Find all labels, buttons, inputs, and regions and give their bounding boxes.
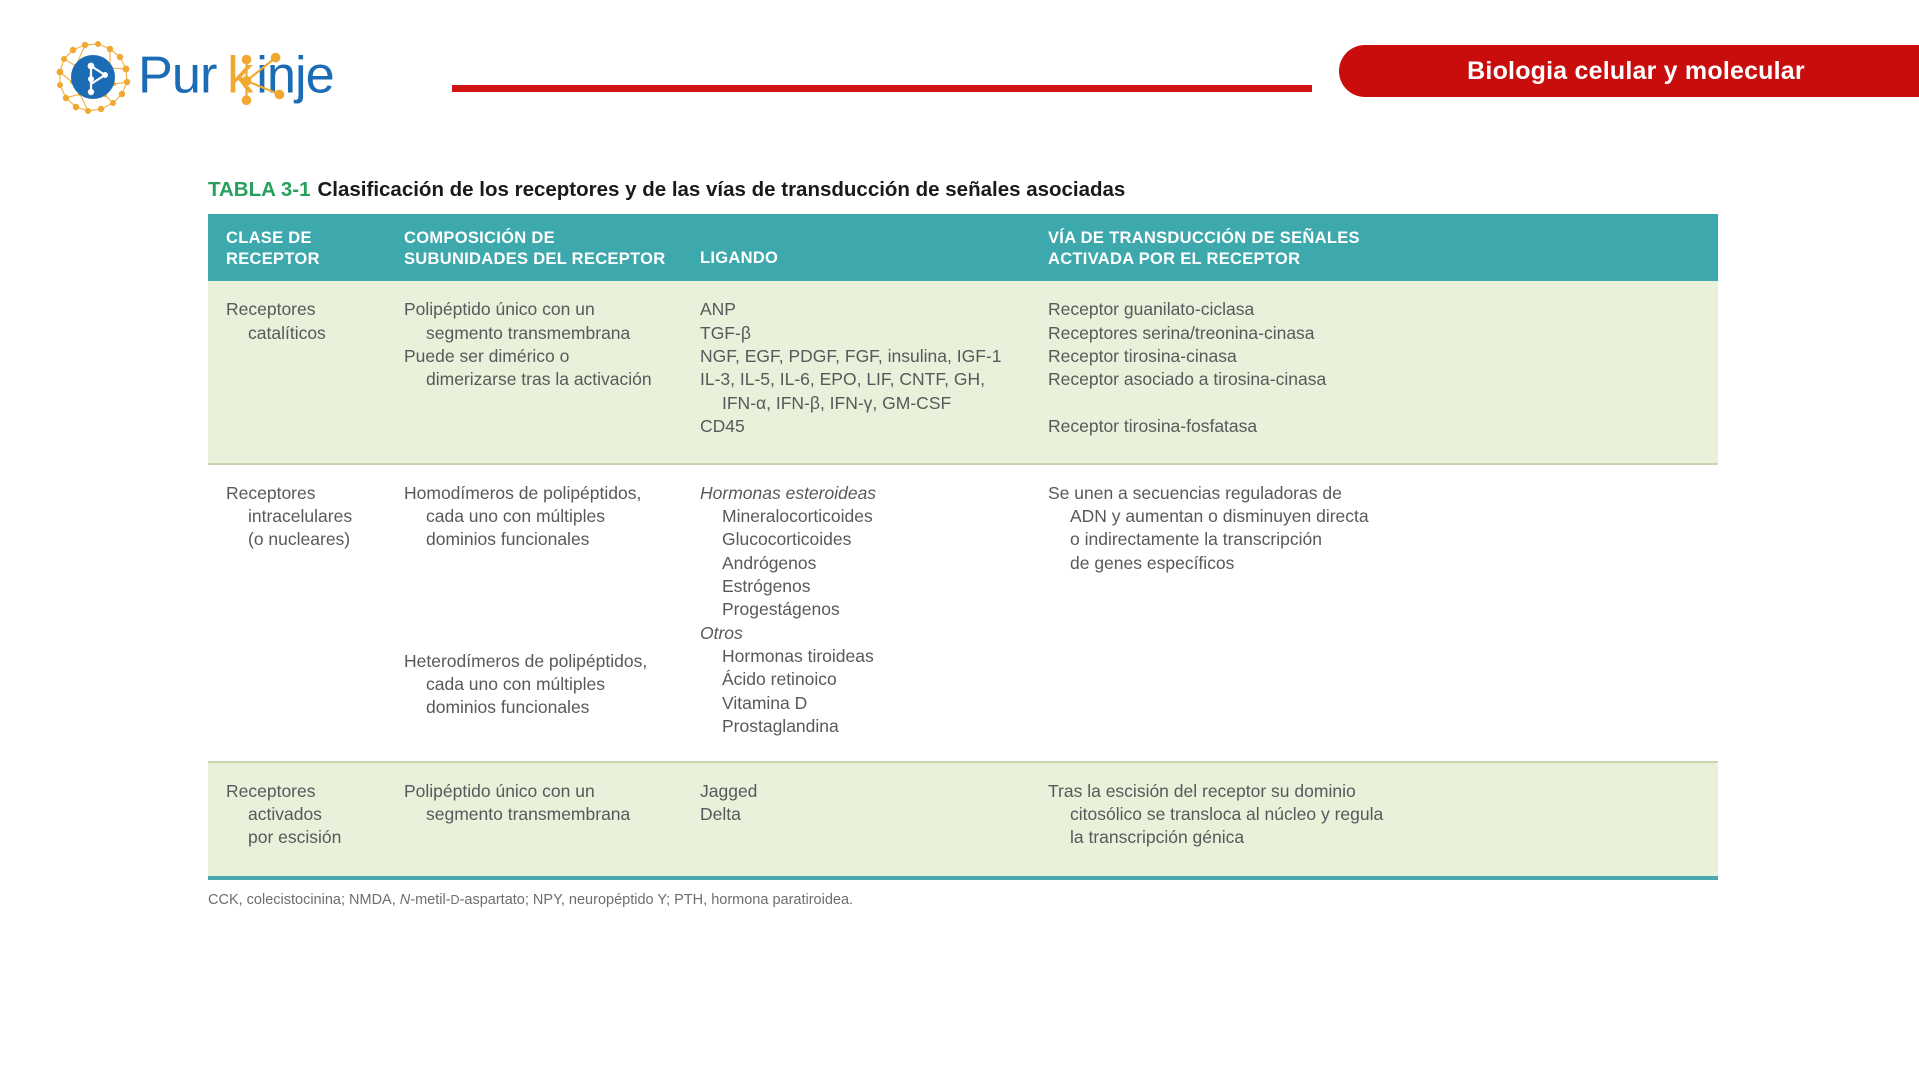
cell-via: Tras la escisión del receptor su dominio… bbox=[1048, 780, 1718, 850]
cell-line: Andrógenos bbox=[700, 552, 1048, 575]
cell-line: Hormonas tiroideas bbox=[700, 645, 1048, 668]
cell-line: segmento transmembrana bbox=[404, 803, 700, 826]
column-header-ligando-line1: LIGANDO bbox=[700, 248, 1048, 269]
cell-via: Receptor guanilato-ciclasa Receptores se… bbox=[1048, 298, 1718, 438]
cell-line: Heterodímeros de polipéptidos, bbox=[404, 650, 700, 673]
cell-line: Ácido retinoico bbox=[700, 668, 1048, 691]
cell-clase: Receptores catalíticos bbox=[208, 298, 404, 438]
column-header-via-line1: VÍA DE TRANSDUCCIÓN DE SEÑALES bbox=[1048, 228, 1704, 249]
cell-line: cada uno con múltiples bbox=[404, 505, 700, 528]
footnote-part: -metil- bbox=[410, 892, 450, 908]
cell-line: Prostaglandina bbox=[700, 715, 1048, 738]
table-row: Receptores intracelulares (o nucleares) … bbox=[208, 465, 1718, 761]
cell-line: la transcripción génica bbox=[1048, 826, 1704, 849]
spacer bbox=[404, 552, 700, 650]
cell-line: segmento transmembrana bbox=[404, 322, 700, 345]
column-header-composicion: COMPOSICIÓN DE SUBUNIDADES DEL RECEPTOR bbox=[404, 228, 700, 269]
cell-line: Puede ser dimérico o bbox=[404, 345, 700, 368]
column-header-via-line2: ACTIVADA POR EL RECEPTOR bbox=[1048, 249, 1704, 270]
column-header-composicion-line1: COMPOSICIÓN DE bbox=[404, 228, 700, 249]
cell-line: activados bbox=[226, 803, 404, 826]
purkinje-logo-icon bbox=[50, 38, 136, 116]
brand-logo[interactable]: Pur k inje bbox=[50, 38, 429, 116]
cell-line: (o nucleares) bbox=[226, 528, 404, 551]
cell-line: catalíticos bbox=[226, 322, 404, 345]
cell-clase: Receptores intracelulares (o nucleares) bbox=[208, 482, 404, 739]
cell-line: Receptor tirosina-cinasa bbox=[1048, 345, 1704, 368]
column-header-clase-line2: RECEPTOR bbox=[226, 249, 404, 270]
cell-line: Receptores bbox=[226, 482, 404, 505]
cell-line: Polipéptido único con un bbox=[404, 780, 700, 803]
ligando-group-heading: Otros bbox=[700, 622, 1048, 645]
cell-line: Receptores bbox=[226, 298, 404, 321]
cell-line: Homodímeros de polipéptidos, bbox=[404, 482, 700, 505]
cell-line: Tras la escisión del receptor su dominio bbox=[1048, 780, 1704, 803]
column-header-ligando: LIGANDO bbox=[700, 228, 1048, 269]
ligando-group-heading: Hormonas esteroideas bbox=[700, 482, 1048, 505]
footnote-part: D bbox=[451, 893, 460, 907]
cell-line: por escisión bbox=[226, 826, 404, 849]
table-footnote: CCK, colecistocinina; NMDA, N-metil-D-as… bbox=[208, 880, 1718, 910]
svg-text:Pur: Pur bbox=[138, 47, 217, 105]
table-caption: TABLA 3-1Clasificación de los receptores… bbox=[208, 178, 1718, 202]
cell-line: IFN-α, IFN-β, IFN-γ, GM-CSF bbox=[700, 392, 1048, 415]
page-header: Pur k inje Biologia celular y molecular bbox=[0, 0, 1919, 130]
column-header-clase: CLASE DE RECEPTOR bbox=[208, 228, 404, 269]
cell-line: Receptor asociado a tirosina-cinasa bbox=[1048, 368, 1704, 391]
table-block: TABLA 3-1Clasificación de los receptores… bbox=[208, 178, 1718, 909]
table-row: Receptores catalíticos Polipéptido único… bbox=[208, 281, 1718, 462]
cell-line: Receptores bbox=[226, 780, 404, 803]
footnote-part: N bbox=[400, 892, 410, 908]
cell-line: Vitamina D bbox=[700, 692, 1048, 715]
cell-line: intracelulares bbox=[226, 505, 404, 528]
cell-line: ADN y aumentan o disminuyen directa bbox=[1048, 505, 1704, 528]
cell-line: Estrógenos bbox=[700, 575, 1048, 598]
table-row: Receptores activados por escisión Polipé… bbox=[208, 763, 1718, 876]
footnote-part: -aspartato; NPY, neuropéptido Y; PTH, ho… bbox=[460, 892, 853, 908]
cell-composicion: Homodímeros de polipéptidos, cada uno co… bbox=[404, 482, 700, 739]
header-title-banner: Biologia celular y molecular bbox=[1339, 45, 1919, 97]
cell-ligando: Jagged Delta bbox=[700, 780, 1048, 850]
cell-line: o indirectamente la transcripción bbox=[1048, 528, 1704, 551]
table-header-row: CLASE DE RECEPTOR COMPOSICIÓN DE SUBUNID… bbox=[208, 214, 1718, 281]
spacer bbox=[1048, 392, 1704, 416]
column-header-composicion-line2: SUBUNIDADES DEL RECEPTOR bbox=[404, 249, 700, 270]
cell-line: dominios funcionales bbox=[404, 696, 700, 719]
cell-line: CD45 bbox=[700, 415, 1048, 438]
svg-text:inje: inje bbox=[256, 47, 334, 105]
column-header-clase-line1: CLASE DE bbox=[226, 228, 404, 249]
header-title-text: Biologia celular y molecular bbox=[1467, 57, 1805, 86]
header-red-rule bbox=[452, 85, 1312, 92]
cell-line: de genes específicos bbox=[1048, 552, 1704, 575]
cell-line: Glucocorticoides bbox=[700, 528, 1048, 551]
cell-line: dimerizarse tras la activación bbox=[404, 368, 700, 391]
cell-line: Polipéptido único con un bbox=[404, 298, 700, 321]
cell-line: Jagged bbox=[700, 780, 1048, 803]
cell-line: Receptor tirosina-fosfatasa bbox=[1048, 415, 1704, 438]
cell-composicion: Polipéptido único con un segmento transm… bbox=[404, 780, 700, 850]
table-number: TABLA 3-1 bbox=[208, 178, 311, 201]
cell-line: TGF-β bbox=[700, 322, 1048, 345]
cell-line: IL-3, IL-5, IL-6, EPO, LIF, CNTF, GH, bbox=[700, 368, 1048, 391]
cell-line: cada uno con múltiples bbox=[404, 673, 700, 696]
cell-ligando: ANP TGF-β NGF, EGF, PDGF, FGF, insulina,… bbox=[700, 298, 1048, 438]
cell-clase: Receptores activados por escisión bbox=[208, 780, 404, 850]
cell-line: Receptor guanilato-ciclasa bbox=[1048, 298, 1704, 321]
cell-line: ANP bbox=[700, 298, 1048, 321]
cell-line: NGF, EGF, PDGF, FGF, insulina, IGF-1 bbox=[700, 345, 1048, 368]
cell-line: Mineralocorticoides bbox=[700, 505, 1048, 528]
footnote-part: CCK, colecistocinina; NMDA, bbox=[208, 892, 400, 908]
cell-line: Receptores serina/treonina-cinasa bbox=[1048, 322, 1704, 345]
cell-composicion: Polipéptido único con un segmento transm… bbox=[404, 298, 700, 438]
svg-text:k: k bbox=[227, 47, 254, 105]
cell-via: Se unen a secuencias reguladoras de ADN … bbox=[1048, 482, 1718, 739]
brand-wordmark-icon: Pur k inje bbox=[138, 46, 429, 108]
column-header-via: VÍA DE TRANSDUCCIÓN DE SEÑALES ACTIVADA … bbox=[1048, 228, 1718, 269]
cell-line: Progestágenos bbox=[700, 598, 1048, 621]
table-caption-text: Clasificación de los receptores y de las… bbox=[318, 178, 1126, 201]
cell-line: dominios funcionales bbox=[404, 528, 700, 551]
cell-line: citosólico se transloca al núcleo y regu… bbox=[1048, 803, 1704, 826]
cell-line: Delta bbox=[700, 803, 1048, 826]
cell-ligando: Hormonas esteroideas Mineralocorticoides… bbox=[700, 482, 1048, 739]
cell-line: Se unen a secuencias reguladoras de bbox=[1048, 482, 1704, 505]
